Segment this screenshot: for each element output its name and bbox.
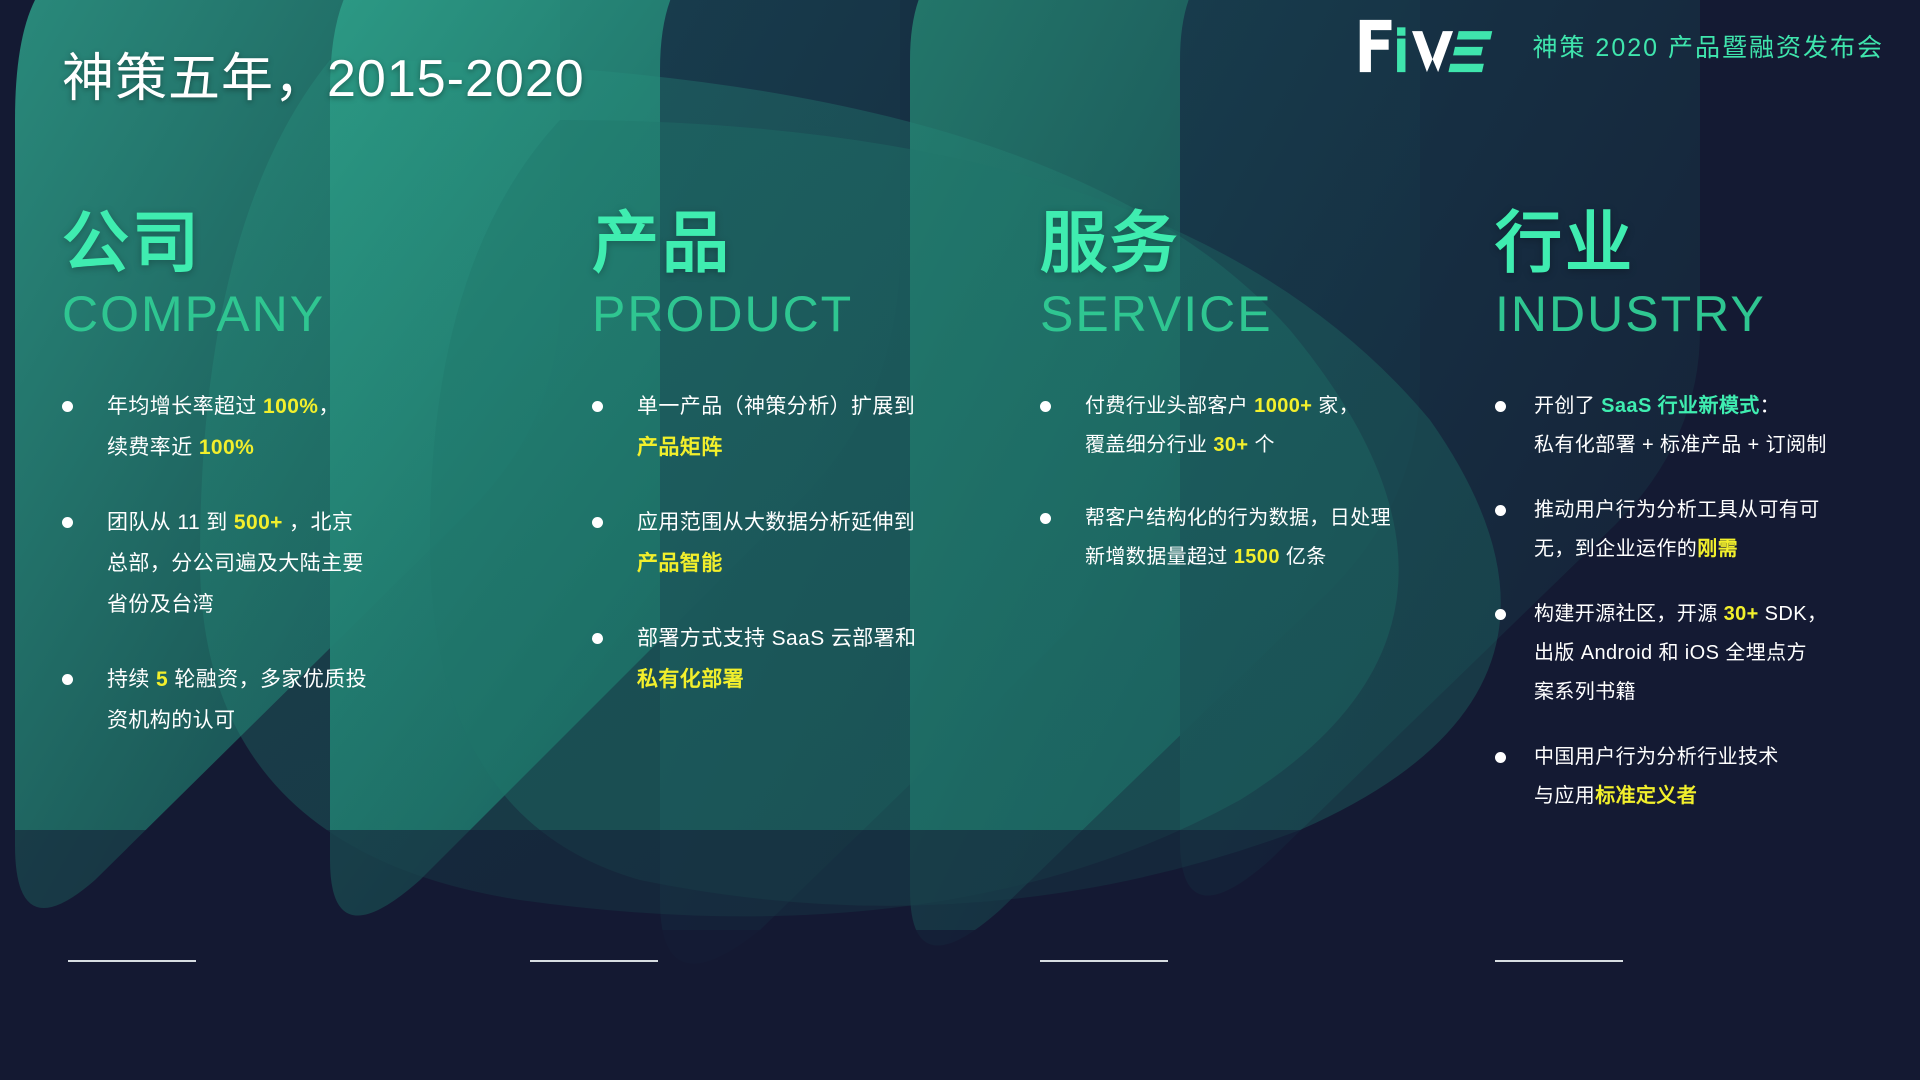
bullet-text: 开创了 SaaS 行业新模式：私有化部署 + 标准产品 + 订阅制 bbox=[1534, 387, 1827, 465]
highlight-number: 30+ bbox=[1213, 434, 1248, 456]
bullet-item: 应用范围从大数据分析延伸到产品智能 bbox=[592, 503, 972, 585]
bullet-text-run: 个 bbox=[1249, 434, 1275, 456]
bullet-text-run: 覆盖细分行业 bbox=[1085, 434, 1213, 456]
bullet-dot-icon bbox=[1040, 401, 1051, 412]
highlight-term: SaaS 行业新模式 bbox=[1601, 395, 1759, 417]
bullet-item: 年均增长率超过 100%，续费率近 100% bbox=[62, 387, 462, 469]
column-product: 产品 PRODUCT 单一产品（神策分析）扩展到产品矩阵应用范围从大数据分析延伸… bbox=[592, 210, 972, 735]
bullet-dot-icon bbox=[1495, 505, 1506, 516]
bullet-text-run: 总部，分公司遍及大陆主要 bbox=[107, 552, 364, 575]
highlight-number: 产品矩阵 bbox=[637, 436, 723, 459]
bullet-item: 中国用户行为分析行业技术与应用标准定义者 bbox=[1495, 738, 1905, 816]
bullet-text-run: 私有化部署 + 标准产品 + 订阅制 bbox=[1534, 434, 1827, 456]
bullet-text: 构建开源社区，开源 30+ SDK，出版 Android 和 iOS 全埋点方案… bbox=[1534, 595, 1827, 712]
bullet-item: 持续 5 轮融资，多家优质投资机构的认可 bbox=[62, 660, 462, 742]
bullet-text-run: 与应用 bbox=[1534, 785, 1595, 807]
bullet-text-run: 续费率近 bbox=[107, 436, 199, 459]
highlight-number: 刚需 bbox=[1697, 538, 1738, 560]
bullet-item: 开创了 SaaS 行业新模式：私有化部署 + 标准产品 + 订阅制 bbox=[1495, 387, 1905, 465]
bullet-text: 推动用户行为分析工具从可有可无，到企业运作的刚需 bbox=[1534, 491, 1820, 569]
bullet-dot-icon bbox=[592, 517, 603, 528]
bullet-text-run: 应用范围从大数据分析延伸到 bbox=[637, 511, 915, 534]
highlight-number: 1500 bbox=[1234, 546, 1280, 568]
bullet-dot-icon bbox=[592, 633, 603, 644]
bullet-text-run: 轮融资，多家优质投 bbox=[168, 668, 367, 691]
bullet-text-run: 构建开源社区，开源 bbox=[1534, 603, 1724, 625]
bullet-dot-icon bbox=[592, 401, 603, 412]
bullet-text-run: 资机构的认可 bbox=[107, 709, 235, 732]
bullet-text-run: 亿条 bbox=[1280, 546, 1327, 568]
bullet-dot-icon bbox=[62, 674, 73, 685]
bullet-text: 年均增长率超过 100%，续费率近 100% bbox=[107, 387, 340, 469]
columns-container: 公司 COMPANY 年均增长率超过 100%，续费率近 100%团队从 11 … bbox=[0, 0, 1920, 1080]
bullet-list: 付费行业头部客户 1000+ 家，覆盖细分行业 30+ 个帮客户结构化的行为数据… bbox=[1040, 387, 1420, 577]
bullet-text: 单一产品（神策分析）扩展到产品矩阵 bbox=[637, 387, 915, 469]
highlight-number: 产品智能 bbox=[637, 552, 723, 575]
brand-title: 神策 2020 产品暨融资发布会 bbox=[1532, 28, 1884, 64]
bullet-dot-icon bbox=[1495, 609, 1506, 620]
bullet-item: 单一产品（神策分析）扩展到产品矩阵 bbox=[592, 387, 972, 469]
column-underline-service bbox=[1040, 960, 1168, 962]
bullet-list: 年均增长率超过 100%，续费率近 100%团队从 11 到 500+ ，北京总… bbox=[62, 387, 462, 742]
bullet-item: 推动用户行为分析工具从可有可无，到企业运作的刚需 bbox=[1495, 491, 1905, 569]
bullet-text-run: 开创了 bbox=[1534, 395, 1601, 417]
highlight-number: 1000+ bbox=[1254, 395, 1312, 417]
column-service: 服务 SERVICE 付费行业头部客户 1000+ 家，覆盖细分行业 30+ 个… bbox=[1040, 210, 1420, 611]
brand-lockup: 神策 2020 产品暨融资发布会 bbox=[1356, 18, 1884, 74]
column-heading-cn: 产品 bbox=[592, 210, 972, 277]
bullet-text: 部署方式支持 SaaS 云部署和私有化部署 bbox=[637, 619, 916, 701]
bullet-text-run: 团队从 11 到 bbox=[107, 511, 234, 534]
highlight-number: 30+ bbox=[1724, 603, 1759, 625]
slide-header: 神策五年，2015-2020 神策 2020 产品暨融资发布会 bbox=[0, 0, 1920, 130]
column-company: 公司 COMPANY 年均增长率超过 100%，续费率近 100%团队从 11 … bbox=[62, 210, 462, 776]
highlight-number: 私有化部署 bbox=[637, 668, 744, 691]
bullet-dot-icon bbox=[1040, 513, 1051, 524]
column-heading-en: SERVICE bbox=[1040, 289, 1420, 339]
bullet-text-run: 出版 Android 和 iOS 全埋点方 bbox=[1534, 642, 1807, 664]
bullet-text: 付费行业头部客户 1000+ 家，覆盖细分行业 30+ 个 bbox=[1085, 387, 1359, 465]
five-logo-icon bbox=[1356, 18, 1515, 74]
bullet-text-run: 帮客户结构化的行为数据，日处理 bbox=[1085, 507, 1391, 529]
bullet-text-run: 家， bbox=[1312, 395, 1359, 417]
bullet-list: 开创了 SaaS 行业新模式：私有化部署 + 标准产品 + 订阅制推动用户行为分… bbox=[1495, 387, 1905, 816]
bullet-text-run: 付费行业头部客户 bbox=[1085, 395, 1254, 417]
column-heading-cn: 公司 bbox=[62, 210, 462, 277]
column-heading-cn: 服务 bbox=[1040, 210, 1420, 277]
bullet-text-run: 年均增长率超过 bbox=[107, 395, 263, 418]
bullet-text-run: ，北京 bbox=[283, 511, 353, 534]
bullet-dot-icon bbox=[1495, 401, 1506, 412]
bullet-text-run: 单一产品（神策分析）扩展到 bbox=[637, 395, 915, 418]
bullet-text-run: 持续 bbox=[107, 668, 156, 691]
bullet-text-run: 推动用户行为分析工具从可有可 bbox=[1534, 499, 1820, 521]
bullet-text-run: 中国用户行为分析行业技术 bbox=[1534, 746, 1779, 768]
highlight-number: 标准定义者 bbox=[1595, 785, 1697, 807]
bullet-dot-icon bbox=[62, 517, 73, 528]
bullet-text-run: 案系列书籍 bbox=[1534, 681, 1636, 703]
highlight-number: 500+ bbox=[234, 511, 283, 534]
highlight-number: 100% bbox=[263, 395, 318, 418]
bullet-text: 帮客户结构化的行为数据，日处理新增数据量超过 1500 亿条 bbox=[1085, 499, 1391, 577]
bullet-text-run: ， bbox=[318, 395, 339, 418]
highlight-number: 5 bbox=[156, 668, 168, 691]
column-heading-cn: 行业 bbox=[1495, 210, 1905, 277]
column-industry: 行业 INDUSTRY 开创了 SaaS 行业新模式：私有化部署 + 标准产品 … bbox=[1495, 210, 1905, 842]
bullet-text-run: 新增数据量超过 bbox=[1085, 546, 1234, 568]
bullet-item: 部署方式支持 SaaS 云部署和私有化部署 bbox=[592, 619, 972, 701]
bullet-text-run: SDK， bbox=[1759, 603, 1828, 625]
highlight-number: 100% bbox=[199, 436, 254, 459]
bullet-text-run: 无，到企业运作的 bbox=[1534, 538, 1697, 560]
bullet-text-run: 省份及台湾 bbox=[107, 593, 214, 616]
bullet-item: 团队从 11 到 500+ ，北京总部，分公司遍及大陆主要省份及台湾 bbox=[62, 503, 462, 626]
bullet-text: 持续 5 轮融资，多家优质投资机构的认可 bbox=[107, 660, 367, 742]
bullet-text: 团队从 11 到 500+ ，北京总部，分公司遍及大陆主要省份及台湾 bbox=[107, 503, 364, 626]
bullet-text-run: 部署方式支持 SaaS 云部署和 bbox=[637, 627, 916, 650]
bullet-item: 帮客户结构化的行为数据，日处理新增数据量超过 1500 亿条 bbox=[1040, 499, 1420, 577]
column-underline-company bbox=[68, 960, 196, 962]
column-heading-en: COMPANY bbox=[62, 289, 462, 339]
column-underline-industry bbox=[1495, 960, 1623, 962]
bullet-dot-icon bbox=[62, 401, 73, 412]
bullet-item: 付费行业头部客户 1000+ 家，覆盖细分行业 30+ 个 bbox=[1040, 387, 1420, 465]
bullet-text: 中国用户行为分析行业技术与应用标准定义者 bbox=[1534, 738, 1779, 816]
column-heading-en: PRODUCT bbox=[592, 289, 972, 339]
bullet-text-run: ： bbox=[1760, 395, 1780, 417]
column-underline-product bbox=[530, 960, 658, 962]
bullet-item: 构建开源社区，开源 30+ SDK，出版 Android 和 iOS 全埋点方案… bbox=[1495, 595, 1905, 712]
bullet-dot-icon bbox=[1495, 752, 1506, 763]
bullet-text: 应用范围从大数据分析延伸到产品智能 bbox=[637, 503, 915, 585]
page-title: 神策五年，2015-2020 bbox=[62, 36, 585, 111]
column-heading-en: INDUSTRY bbox=[1495, 289, 1905, 339]
bullet-list: 单一产品（神策分析）扩展到产品矩阵应用范围从大数据分析延伸到产品智能部署方式支持… bbox=[592, 387, 972, 701]
